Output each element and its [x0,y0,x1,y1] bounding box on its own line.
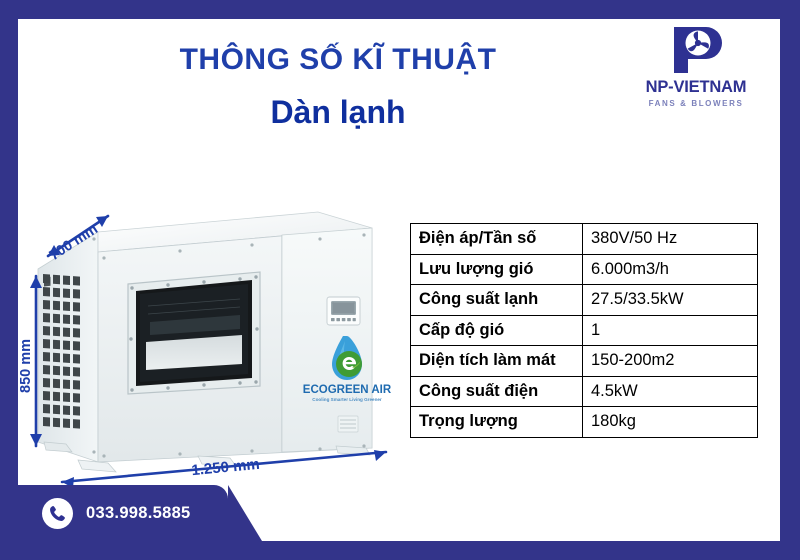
spec-table: Điện áp/Tần số 380V/50 Hz Lưu lượng gió … [410,223,758,438]
spec-value: 27.5/33.5kW [583,285,758,316]
spec-label: Cấp độ gió [411,315,583,346]
spec-label: Trọng lượng [411,407,583,438]
spec-label: Diện tích làm mát [411,346,583,377]
table-row: Công suất lạnh 27.5/33.5kW [411,285,758,316]
poster-canvas: THÔNG SỐ KĨ THUẬT Dàn lạnh NP-VIETNAM FA… [18,19,780,541]
dimension-label-height: 850 mm [20,339,34,393]
control-panel-display-icon [327,297,360,325]
product-brand-name: ECOGREEN AIR [303,384,392,396]
spec-label: Công suất lạnh [411,285,583,316]
table-row: Diện tích làm mát 150-200m2 [411,346,758,377]
page-subtitle: Dàn lạnh [118,94,558,131]
poster-frame: THÔNG SỐ KĨ THUẬT Dàn lạnh NP-VIETNAM FA… [0,0,800,560]
table-row: Công suất điện 4.5kW [411,376,758,407]
table-row: Trọng lượng 180kg [411,407,758,438]
page-title: THÔNG SỐ KĨ THUẬT [118,43,558,77]
phone-number: 033.998.5885 [86,504,191,523]
spec-value: 4.5kW [583,376,758,407]
product-brand-tagline: Cooling Smarter Living Greener [312,397,382,402]
brand-logo-name: NP-VIETNAM [630,78,762,97]
brand-logo: NP-VIETNAM FANS & BLOWERS [630,25,762,108]
np-fan-logo-icon [668,25,724,75]
spec-value: 380V/50 Hz [583,224,758,255]
spec-value: 180kg [583,407,758,438]
spec-value: 6.000m3/h [583,254,758,285]
phone-icon [42,498,73,529]
contact-info: 033.998.5885 [18,485,228,541]
spec-label: Lưu lượng gió [411,254,583,285]
spec-label: Điện áp/Tần số [411,224,583,255]
spec-value: 1 [583,315,758,346]
table-row: Cấp độ gió 1 [411,315,758,346]
brand-logo-tagline: FANS & BLOWERS [630,99,762,108]
table-row: Điện áp/Tần số 380V/50 Hz [411,224,758,255]
table-row: Lưu lượng gió 6.000m3/h [411,254,758,285]
spec-value: 150-200m2 [583,346,758,377]
spec-label: Công suất điện [411,376,583,407]
product-image: ECOGREEN AIR Cooling Smarter Living Gree… [20,194,420,504]
